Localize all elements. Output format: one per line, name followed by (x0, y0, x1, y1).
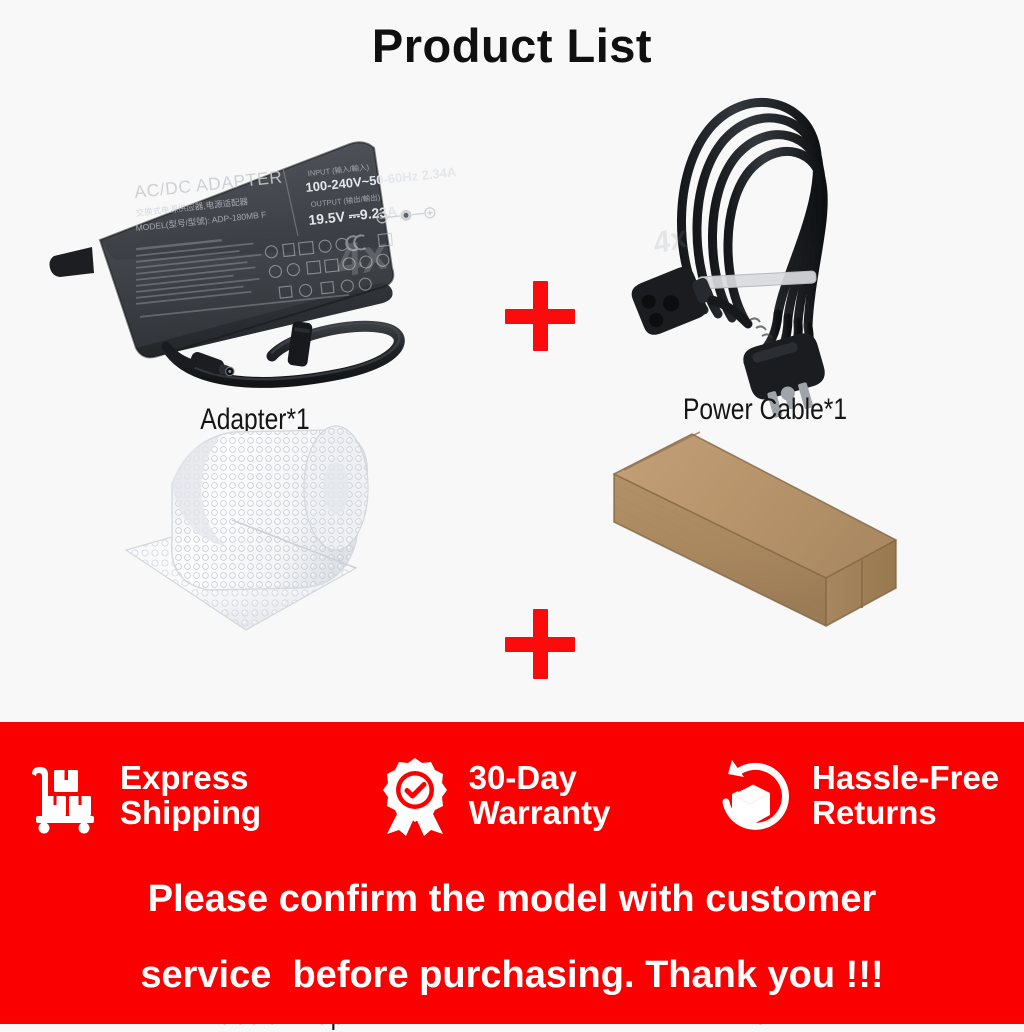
promo-banner: Express Shipping (0, 722, 1024, 1024)
badge-line-2: Shipping (120, 795, 261, 830)
badge-line-2: Warranty (469, 795, 611, 830)
badge-express-shipping-text: Express Shipping (120, 760, 261, 831)
badge-line-2: Returns (812, 795, 999, 830)
page-title: Product List (0, 18, 1024, 73)
bubble-wrap-roll-image (120, 418, 450, 648)
badge-warranty: 30-Day Warranty (351, 754, 694, 836)
badge-line-1: Express (120, 760, 261, 795)
badge-line-1: Hassle-Free (812, 760, 999, 795)
box-return-arrow-icon (714, 754, 796, 836)
badge-returns: Hassle-Free Returns (694, 754, 1024, 836)
hand-truck-boxes-icon (22, 754, 104, 836)
product-cell-box: Box*1 (600, 418, 940, 648)
badge-returns-text: Hassle-Free Returns (812, 760, 999, 831)
product-cell-adapter: AC/DC ADAPTER 交换式电源供应器,电源适配器 MODEL(型号/型號… (40, 88, 470, 388)
product-cell-power-cable: 4x Power Cable*1 (600, 78, 930, 388)
plus-separator-icon-1 (505, 281, 575, 351)
plus-separator-icon-2 (505, 609, 575, 679)
service-badges: Express Shipping (0, 730, 1024, 860)
award-rosette-check-icon (377, 754, 453, 836)
product-grid: AC/DC ADAPTER 交换式电源供应器,电源适配器 MODEL(型号/型號… (0, 78, 1024, 722)
badge-warranty-text: 30-Day Warranty (469, 760, 611, 831)
notice-line-2: service before purchasing. Thank you !!! (0, 956, 1024, 994)
confirm-model-notice: Please confirm the model with customer s… (0, 870, 1024, 994)
power-cable-image: 4x (600, 78, 930, 388)
adapter-image: AC/DC ADAPTER 交换式电源供应器,电源适配器 MODEL(型号/型號… (40, 88, 470, 388)
product-list-page: Product List (0, 0, 1024, 1024)
badge-express-shipping: Express Shipping (0, 754, 351, 836)
badge-line-1: 30-Day (469, 760, 611, 795)
notice-line-1: Please confirm the model with customer (0, 880, 1024, 918)
product-cell-bubble-wrap: Bubble Wrap*1 (120, 418, 450, 648)
cardboard-box-image (600, 418, 940, 648)
